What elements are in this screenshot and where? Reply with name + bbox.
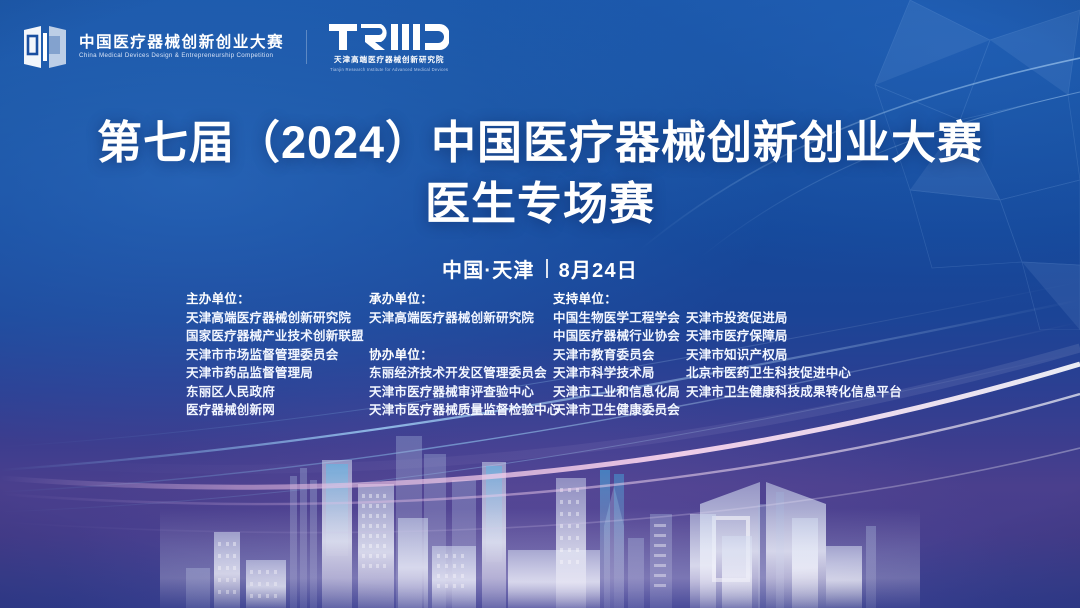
list-item: 天津市教育委员会 (553, 346, 686, 365)
column-spacer (686, 290, 896, 309)
host-heading: 承办单位： (369, 290, 553, 309)
column-spacer (369, 327, 553, 346)
logo-primary-cn-text: 中国医疗器械创新创业大赛 (79, 35, 284, 51)
supporter-heading: 支持单位： (553, 290, 686, 309)
list-item: 中国生物医学工程学会 (553, 309, 686, 328)
list-item: 天津高端医疗器械创新研究院 (369, 309, 553, 328)
triiid-wordmark-icon (329, 22, 449, 52)
list-item: 天津高端医疗器械创新研究院 (186, 309, 369, 328)
list-item: 天津市科学技术局 (553, 364, 686, 383)
list-item: 天津市卫生健康委员会 (553, 401, 686, 420)
list-item: 天津市医疗器械审评查验中心 (369, 383, 553, 402)
logo-divider (306, 30, 307, 64)
list-item: 东丽区人民政府 (186, 383, 369, 402)
supporter-column-b: 天津市投资促进局 天津市医疗保障局 天津市知识产权局 北京市医药卫生科技促进中心… (686, 290, 896, 401)
list-item: 天津市市场监督管理委员会 (186, 346, 369, 365)
logo-primary-en-text: China Medical Devices Design & Entrepren… (79, 53, 284, 59)
list-item: 天津市药品监督管理局 (186, 364, 369, 383)
list-item: 国家医疗器械产业技术创新联盟 (186, 327, 369, 346)
page-title: 第七届（2024）中国医疗器械创新创业大赛 医生专场赛 (0, 116, 1080, 232)
organizer-heading: 主办单位： (186, 290, 369, 309)
open-door-icon (22, 24, 68, 70)
list-item: 天津市医疗保障局 (686, 327, 896, 346)
supporter-column-a: 支持单位： 中国生物医学工程学会 中国医疗器械行业协会 天津市教育委员会 天津市… (553, 290, 686, 420)
list-item: 天津市知识产权局 (686, 346, 896, 365)
list-item: 医疗器械创新网 (186, 401, 369, 420)
list-item: 东丽经济技术开发区管理委员会 (369, 364, 553, 383)
logo-secondary-en-text: Tianjin Research Institute for Advanced … (330, 68, 448, 72)
list-item: 天津市工业和信息化局 (553, 383, 686, 402)
organizer-column: 主办单位： 天津高端医疗器械创新研究院 国家医疗器械产业技术创新联盟 天津市市场… (186, 290, 369, 420)
coorganizer-heading: 协办单位： (369, 346, 553, 365)
list-item: 天津市投资促进局 (686, 309, 896, 328)
logo-china-medical-device-competition: 中国医疗器械创新创业大赛 China Medical Devices Desig… (22, 24, 284, 70)
logo-bar: 中国医疗器械创新创业大赛 China Medical Devices Desig… (22, 22, 449, 72)
city-skyline-decoration (0, 418, 1080, 608)
organizations-block: 主办单位： 天津高端医疗器械创新研究院 国家医疗器械产业技术创新联盟 天津市市场… (186, 290, 896, 420)
list-item: 天津市医疗器械质量监督检验中心 (369, 401, 553, 420)
host-and-coorganizer-column: 承办单位： 天津高端医疗器械创新研究院 协办单位： 东丽经济技术开发区管理委员会… (369, 290, 553, 420)
event-date: 8月24日 (559, 254, 638, 283)
event-location: 中国·天津 (442, 254, 535, 283)
list-item: 北京市医药卫生科技促进中心 (686, 364, 896, 383)
list-item: 中国医疗器械行业协会 (553, 327, 686, 346)
logo-secondary-cn-text: 天津高端医疗器械创新研究院 (334, 56, 444, 64)
logo-tianjin-research-institute: 天津高端医疗器械创新研究院 Tianjin Research Institute… (329, 22, 449, 72)
event-banner: 中国医疗器械创新创业大赛 China Medical Devices Desig… (0, 0, 1080, 608)
list-item: 天津市卫生健康科技成果转化信息平台 (686, 383, 896, 402)
subtitle-divider (546, 259, 548, 278)
title-line-1: 第七届（2024）中国医疗器械创新创业大赛 (0, 116, 1080, 171)
title-line-2: 医生专场赛 (0, 177, 1080, 232)
event-subtitle: 中国·天津 8月24日 (0, 254, 1080, 283)
